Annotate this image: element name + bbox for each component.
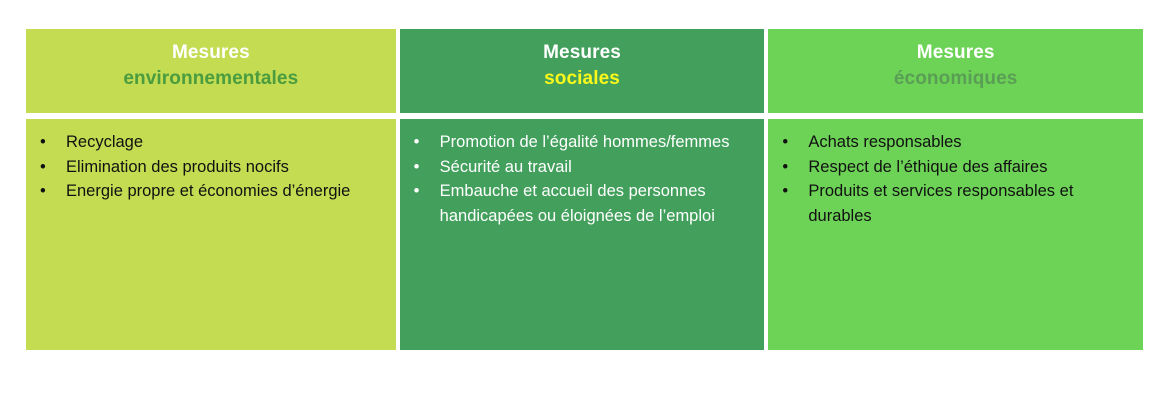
table-body-row: •Recyclage•Elimination des produits noci… [26,119,1143,350]
header-subtitle-economiques: économiques [894,66,1018,92]
list-item-label: Sécurité au travail [440,158,572,176]
header-title-environnementales: Mesures [172,40,250,66]
list-item: •Respect de l’éthique des affaires [782,155,1133,180]
list-item: •Elimination des produits nocifs [40,155,386,180]
bullet-icon: • [414,179,420,204]
list-item: •Recyclage [40,130,386,155]
bullet-icon: • [40,155,46,180]
list-item-label: Recyclage [66,133,143,151]
bullet-icon: • [40,130,46,155]
header-subtitle-sociales: sociales [544,66,620,92]
bullet-icon: • [40,179,46,204]
measures-table: Mesures environnementales Mesures social… [26,29,1143,350]
bullet-list-environnementales: •Recyclage•Elimination des produits noci… [40,130,386,204]
list-item-label: Promotion de l’égalité hommes/femmes [440,133,730,151]
list-item: •Achats responsables [782,130,1133,155]
header-cell-environnementales: Mesures environnementales [26,29,396,113]
bullet-icon: • [782,130,788,155]
bullet-list-sociales: •Promotion de l’égalité hommes/femmes•Sé… [414,130,755,228]
bullet-icon: • [782,179,788,204]
list-item: •Promotion de l’égalité hommes/femmes [414,130,755,155]
bullet-icon: • [414,130,420,155]
header-subtitle-environnementales: environnementales [123,66,298,92]
list-item: •Sécurité au travail [414,155,755,180]
body-cell-environnementales: •Recyclage•Elimination des produits noci… [26,119,396,350]
list-item-label: Respect de l’éthique des affaires [808,158,1047,176]
list-item-label: Embauche et accueil des personnes handic… [440,182,715,225]
list-item-label: Elimination des produits nocifs [66,158,289,176]
bullet-list-economiques: •Achats responsables•Respect de l’éthiqu… [782,130,1133,228]
header-cell-economiques: Mesures économiques [768,29,1143,113]
list-item-label: Achats responsables [808,133,961,151]
list-item: •Energie propre et économies d’énergie [40,179,386,204]
header-title-sociales: Mesures [543,40,621,66]
body-cell-economiques: •Achats responsables•Respect de l’éthiqu… [768,119,1143,350]
list-item: •Produits et services responsables et du… [782,179,1133,228]
bullet-icon: • [414,155,420,180]
list-item-label: Energie propre et économies d’énergie [66,182,350,200]
bullet-icon: • [782,155,788,180]
list-item-label: Produits et services responsables et dur… [808,182,1073,225]
body-cell-sociales: •Promotion de l’égalité hommes/femmes•Sé… [400,119,765,350]
header-title-economiques: Mesures [917,40,995,66]
table-header-row: Mesures environnementales Mesures social… [26,29,1143,113]
list-item: •Embauche et accueil des personnes handi… [414,179,755,228]
header-cell-sociales: Mesures sociales [400,29,765,113]
